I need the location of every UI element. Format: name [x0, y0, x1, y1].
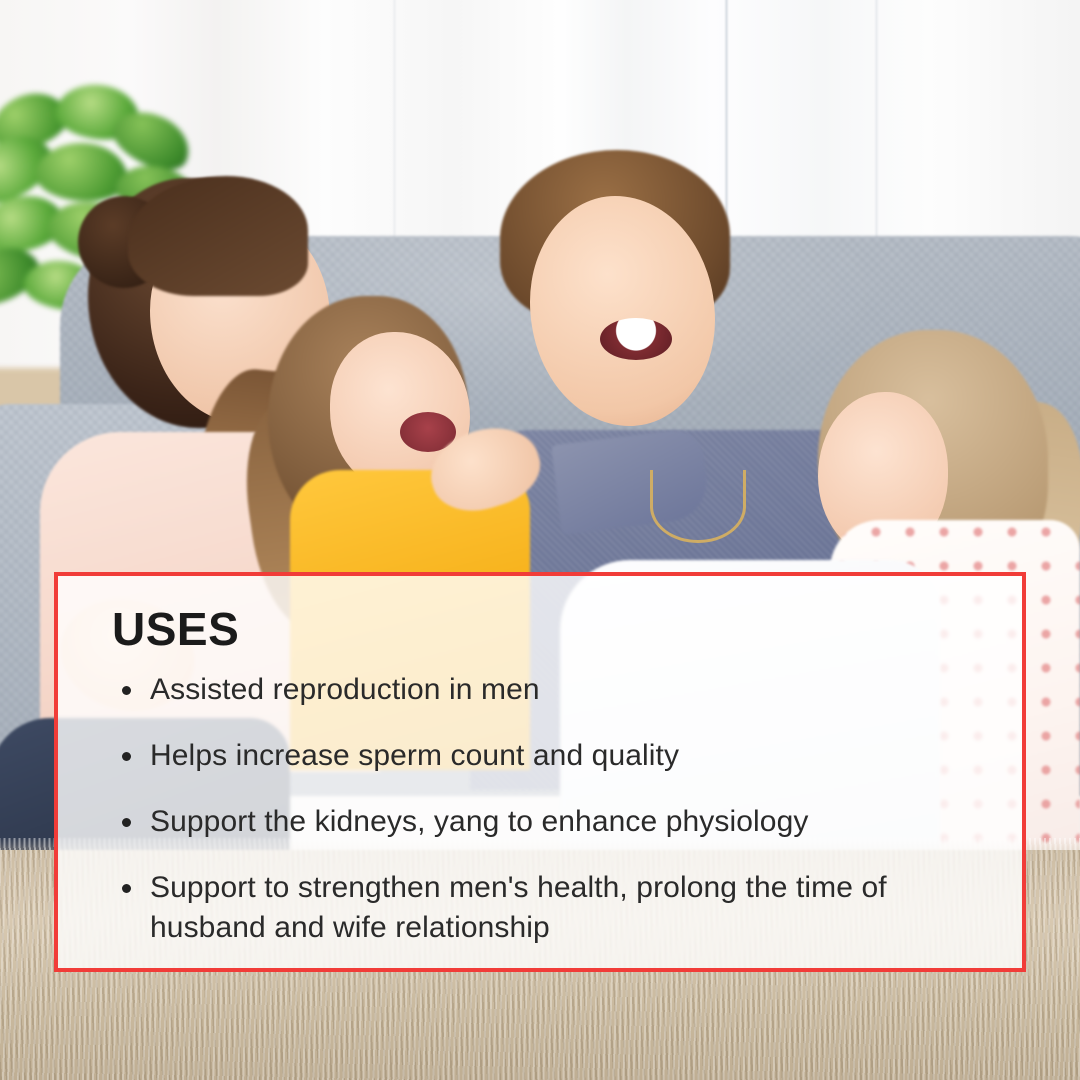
list-item-text: Helps increase sperm count and quality: [150, 739, 679, 772]
bullet-dot-icon: [122, 818, 131, 827]
uses-list: Assisted reproduction in men Helps incre…: [110, 670, 976, 947]
bullet-dot-icon: [122, 686, 131, 695]
bullet-dot-icon: [122, 884, 131, 893]
list-item-text: Support the kidneys, yang to enhance phy…: [150, 805, 808, 838]
uses-card: USES Assisted reproduction in men Helps …: [54, 572, 1026, 972]
list-item-text: Support to strengthen men's health, prol…: [150, 871, 887, 944]
poster-canvas: USES Assisted reproduction in men Helps …: [0, 0, 1080, 1080]
page-title: USES: [112, 606, 976, 652]
list-item-text: Assisted reproduction in men: [150, 673, 540, 706]
bullet-dot-icon: [122, 752, 131, 761]
list-item: Support the kidneys, yang to enhance phy…: [110, 802, 976, 842]
father-necklace: [650, 470, 746, 543]
list-item: Helps increase sperm count and quality: [110, 736, 976, 776]
list-item: Assisted reproduction in men: [110, 670, 976, 710]
father-mouth: [600, 318, 672, 360]
list-item: Support to strengthen men's health, prol…: [110, 868, 976, 948]
uses-card-content: USES Assisted reproduction in men Helps …: [58, 576, 1022, 968]
